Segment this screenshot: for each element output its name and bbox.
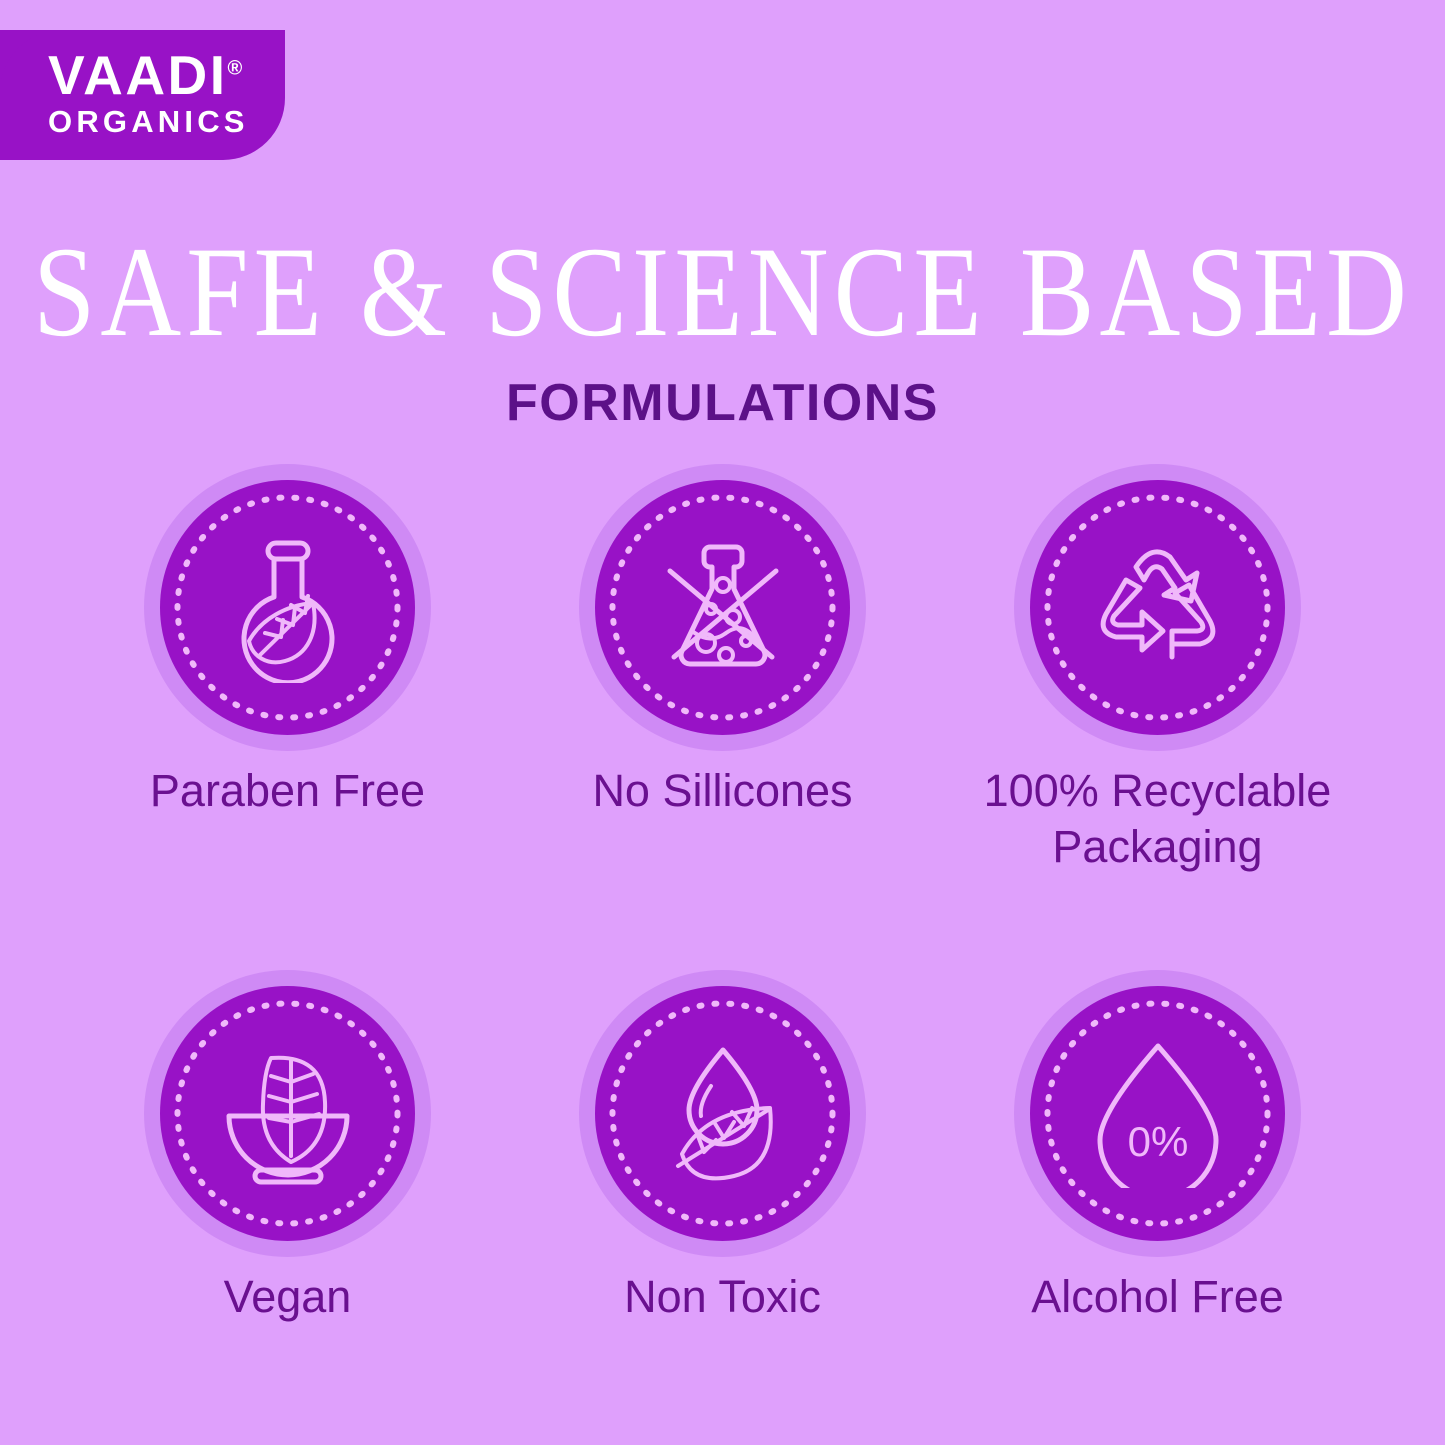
badge-disc: [595, 986, 850, 1241]
feature-badge-grid: Paraben Free: [0, 480, 1445, 1325]
feature-label: Vegan: [88, 1269, 488, 1325]
droplet-percent-label: 0%: [1127, 1118, 1188, 1165]
feature-label: Non Toxic: [523, 1269, 923, 1325]
feature-label: 100% Recyclable Packaging: [958, 763, 1358, 876]
brand-name: VAADI®: [48, 49, 285, 103]
no-silicones-flask-crossed-icon: [648, 533, 798, 683]
droplet-zero-percent-icon: 0%: [1083, 1038, 1233, 1188]
badge-disc: [595, 480, 850, 735]
page-subheadline: FORMULATIONS: [0, 373, 1445, 433]
droplet-leaf-icon: [648, 1038, 798, 1188]
feature-alcohol-free: 0% Alcohol Free: [1030, 986, 1285, 1325]
feature-recyclable-packaging: 100% Recyclable Packaging: [1030, 480, 1285, 876]
feature-non-toxic: Non Toxic: [595, 986, 850, 1325]
recycle-icon: [1083, 533, 1233, 683]
feature-row-2: Vegan: [0, 986, 1445, 1325]
feature-paraben-free: Paraben Free: [160, 480, 415, 876]
feature-no-sillicones: No Sillicones: [595, 480, 850, 876]
bowl-leaf-icon: [213, 1038, 363, 1188]
badge-disc: [1030, 480, 1285, 735]
feature-label: Paraben Free: [88, 763, 488, 819]
page-headline: SAFE & SCIENCE BASED: [0, 228, 1445, 357]
badge-non-toxic: [595, 986, 850, 1241]
brand-logo: VAADI® ORGANICS: [0, 30, 285, 160]
feature-vegan: Vegan: [160, 986, 415, 1325]
badge-disc: [160, 480, 415, 735]
flask-leaf-icon: [213, 533, 363, 683]
badge-disc: 0%: [1030, 986, 1285, 1241]
badge-no-sillicones: [595, 480, 850, 735]
feature-label: Alcohol Free: [958, 1269, 1358, 1325]
feature-label: No Sillicones: [523, 763, 923, 819]
badge-recyclable-packaging: [1030, 480, 1285, 735]
badge-alcohol-free: 0%: [1030, 986, 1285, 1241]
badge-vegan: [160, 986, 415, 1241]
brand-tagline: ORGANICS: [48, 103, 285, 140]
brand-name-text: VAADI: [48, 44, 228, 106]
badge-paraben-free: [160, 480, 415, 735]
badge-disc: [160, 986, 415, 1241]
feature-row-1: Paraben Free: [0, 480, 1445, 876]
registered-trademark-icon: ®: [228, 58, 243, 80]
